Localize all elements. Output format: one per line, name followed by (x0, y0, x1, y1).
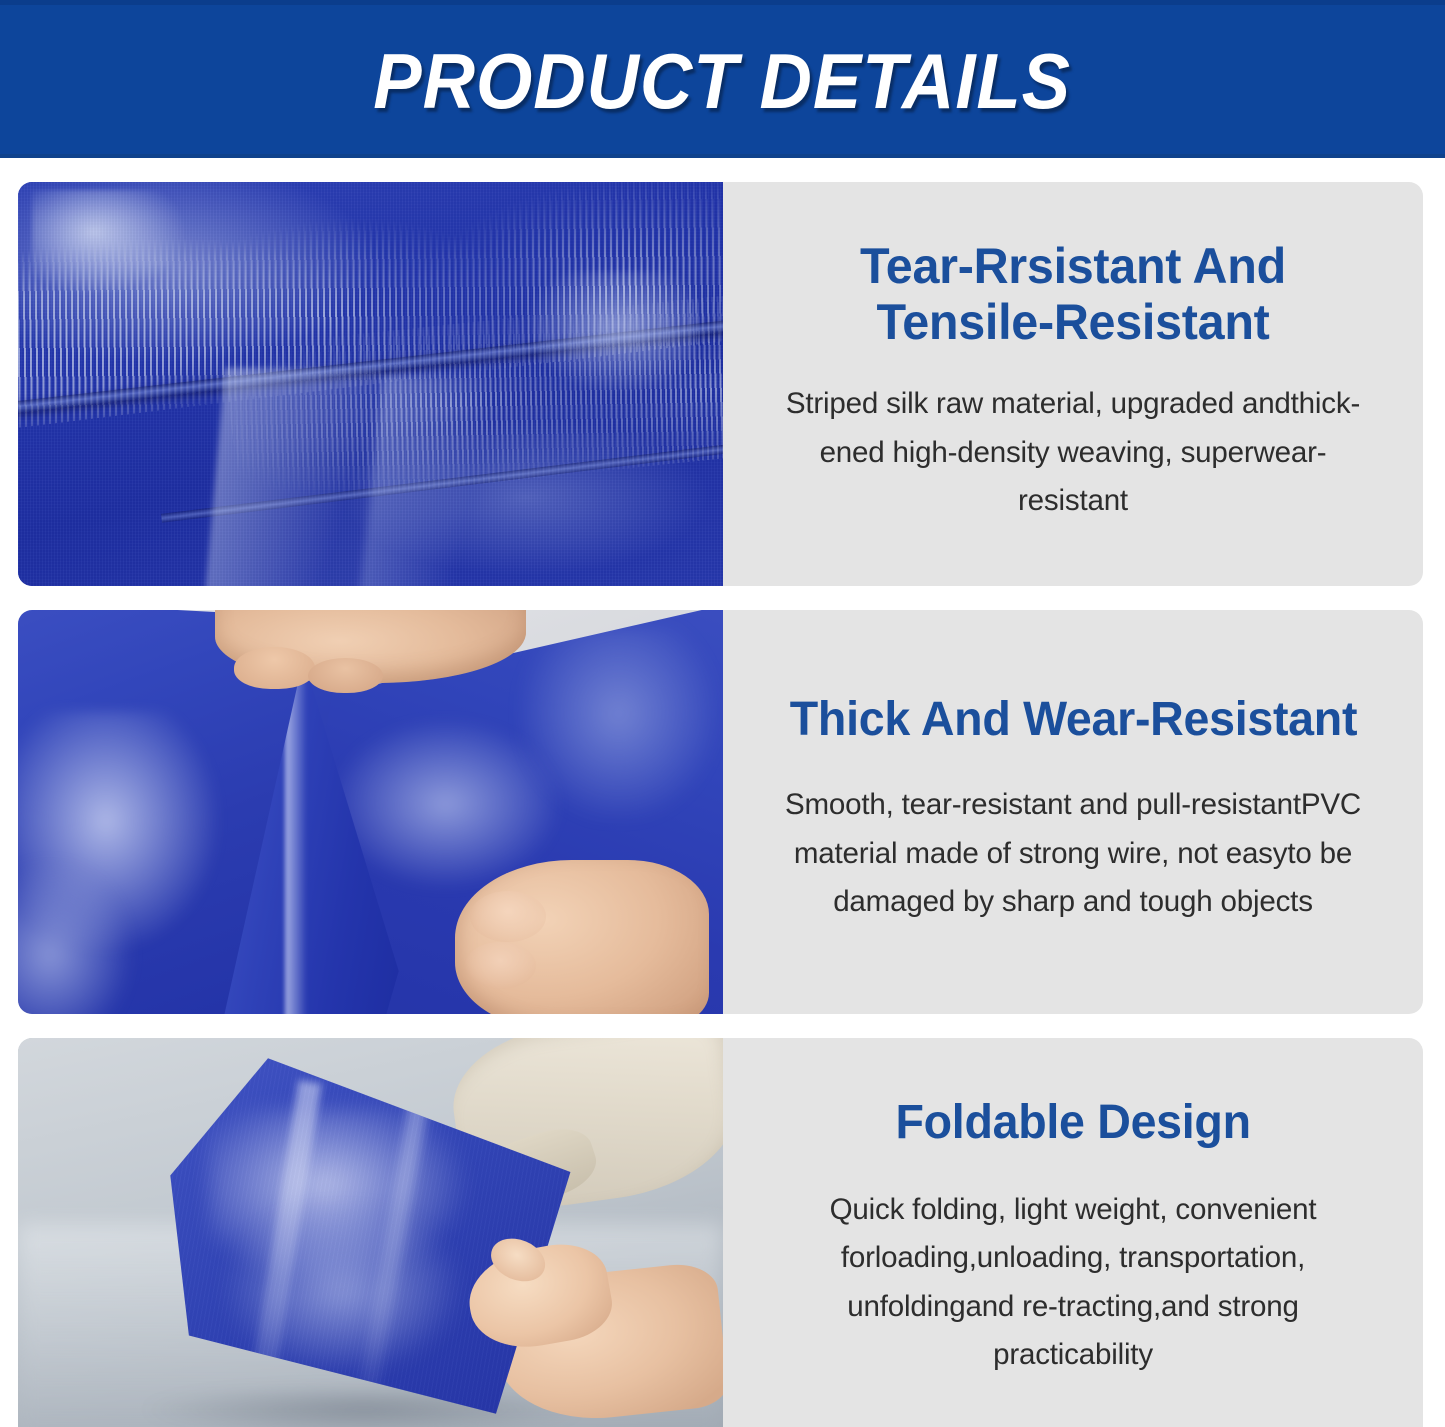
feature-text-panel: Tear-Rrsistant And Tensile-Resistant Str… (723, 182, 1423, 586)
feature-image-hands-pulling-blue-tarpaulin (18, 610, 723, 1014)
feature-text-panel: Foldable Design Quick folding, light wei… (723, 1038, 1423, 1427)
product-details-page: PRODUCT DETAILS Tear-Rrsistant And Tensi… (0, 0, 1445, 1427)
finger-upper-1 (234, 647, 315, 689)
feature-description: Striped silk raw material, upgraded andt… (768, 380, 1379, 526)
feature-title: Foldable Design (895, 1096, 1250, 1150)
tarp-left-highlight-secondary (18, 862, 131, 1014)
feature-image-blue-pvc-tarpaulin-weave-closeup (18, 182, 723, 586)
page-title: PRODUCT DETAILS (374, 36, 1072, 127)
feature-title: Tear-Rrsistant And Tensile-Resistant (772, 238, 1373, 350)
feature-row: Tear-Rrsistant And Tensile-Resistant Str… (18, 182, 1423, 586)
tarp-right-highlight-secondary (520, 627, 717, 820)
feature-title: Thick And Wear-Resistant (789, 693, 1356, 747)
feature-image-person-holding-folded-tarpaulin-bundle (18, 1038, 723, 1427)
tarp-weave-texture (18, 182, 723, 586)
knuckle-lower-2 (465, 942, 536, 990)
feature-text-panel: Thick And Wear-Resistant Smooth, tear-re… (723, 610, 1423, 1014)
page-header-banner: PRODUCT DETAILS (0, 0, 1445, 158)
feature-row: Thick And Wear-Resistant Smooth, tear-re… (18, 610, 1423, 1014)
knuckle-lower-1 (470, 891, 546, 942)
finger-upper-2 (308, 658, 382, 694)
hand-lower (455, 860, 709, 1014)
feature-description: Smooth, tear-resistant and pull-resistan… (768, 781, 1379, 927)
feature-description: Quick folding, light weight, convenient … (768, 1186, 1379, 1380)
feature-row: Foldable Design Quick folding, light wei… (18, 1038, 1423, 1427)
feature-rows: Tear-Rrsistant And Tensile-Resistant Str… (0, 158, 1445, 1427)
